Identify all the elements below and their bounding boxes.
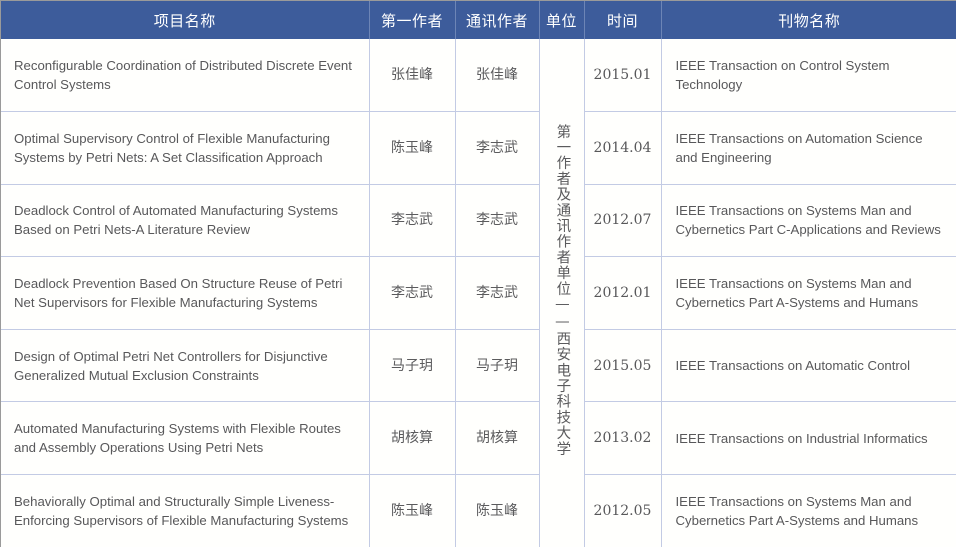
cell-unit-merged: 第一作者及通讯作者单位——西安电子科技大学	[539, 39, 584, 547]
table-body: Reconfigurable Coordination of Distribut…	[1, 39, 956, 547]
table-header: 项目名称 第一作者 通讯作者 单位 时间 刊物名称	[1, 1, 956, 39]
cell-first-author: 李志武	[369, 184, 455, 257]
cell-corresponding-author: 马子玥	[455, 329, 539, 402]
table-row: Automated Manufacturing Systems with Fle…	[1, 402, 956, 475]
cell-journal: IEEE Transactions on Automation Science …	[661, 112, 956, 185]
column-header-corresponding-author: 通讯作者	[455, 1, 539, 39]
publications-table: 项目名称 第一作者 通讯作者 单位 时间 刊物名称 Reconfigurable…	[1, 1, 956, 547]
cell-date: 2012.01	[584, 257, 661, 330]
cell-first-author: 李志武	[369, 257, 455, 330]
table-header-row: 项目名称 第一作者 通讯作者 单位 时间 刊物名称	[1, 1, 956, 39]
column-header-journal: 刊物名称	[661, 1, 956, 39]
cell-first-author: 胡核算	[369, 402, 455, 475]
cell-first-author: 张佳峰	[369, 39, 455, 112]
column-header-date: 时间	[584, 1, 661, 39]
cell-date: 2015.01	[584, 39, 661, 112]
cell-title: Reconfigurable Coordination of Distribut…	[1, 39, 369, 112]
publications-table-container: 项目名称 第一作者 通讯作者 单位 时间 刊物名称 Reconfigurable…	[0, 0, 956, 547]
cell-corresponding-author: 李志武	[455, 112, 539, 185]
cell-title: Design of Optimal Petri Net Controllers …	[1, 329, 369, 402]
cell-first-author: 陈玉峰	[369, 112, 455, 185]
cell-journal: IEEE Transactions on Systems Man and Cyb…	[661, 184, 956, 257]
column-header-title: 项目名称	[1, 1, 369, 39]
cell-first-author: 马子玥	[369, 329, 455, 402]
cell-date: 2014.04	[584, 112, 661, 185]
table-row: Deadlock Control of Automated Manufactur…	[1, 184, 956, 257]
cell-first-author: 陈玉峰	[369, 475, 455, 547]
cell-journal: IEEE Transactions on Systems Man and Cyb…	[661, 475, 956, 547]
table-row: Reconfigurable Coordination of Distribut…	[1, 39, 956, 112]
cell-date: 2012.05	[584, 475, 661, 547]
cell-corresponding-author: 陈玉峰	[455, 475, 539, 547]
cell-date: 2013.02	[584, 402, 661, 475]
cell-title: Deadlock Prevention Based On Structure R…	[1, 257, 369, 330]
cell-title: Optimal Supervisory Control of Flexible …	[1, 112, 369, 185]
cell-corresponding-author: 李志武	[455, 184, 539, 257]
cell-title: Behaviorally Optimal and Structurally Si…	[1, 475, 369, 547]
cell-date: 2012.07	[584, 184, 661, 257]
table-row: Design of Optimal Petri Net Controllers …	[1, 329, 956, 402]
cell-journal: IEEE Transactions on Systems Man and Cyb…	[661, 257, 956, 330]
cell-title: Deadlock Control of Automated Manufactur…	[1, 184, 369, 257]
cell-journal: IEEE Transactions on Industrial Informat…	[661, 402, 956, 475]
column-header-first-author: 第一作者	[369, 1, 455, 39]
table-row: Deadlock Prevention Based On Structure R…	[1, 257, 956, 330]
table-row: Optimal Supervisory Control of Flexible …	[1, 112, 956, 185]
cell-corresponding-author: 胡核算	[455, 402, 539, 475]
cell-corresponding-author: 李志武	[455, 257, 539, 330]
cell-title: Automated Manufacturing Systems with Fle…	[1, 402, 369, 475]
table-row: Behaviorally Optimal and Structurally Si…	[1, 475, 956, 547]
cell-journal: IEEE Transaction on Control System Techn…	[661, 39, 956, 112]
column-header-unit: 单位	[539, 1, 584, 39]
cell-corresponding-author: 张佳峰	[455, 39, 539, 112]
unit-vertical-label: 第一作者及通讯作者单位——西安电子科技大学	[554, 124, 570, 457]
cell-journal: IEEE Transactions on Automatic Control	[661, 329, 956, 402]
cell-date: 2015.05	[584, 329, 661, 402]
